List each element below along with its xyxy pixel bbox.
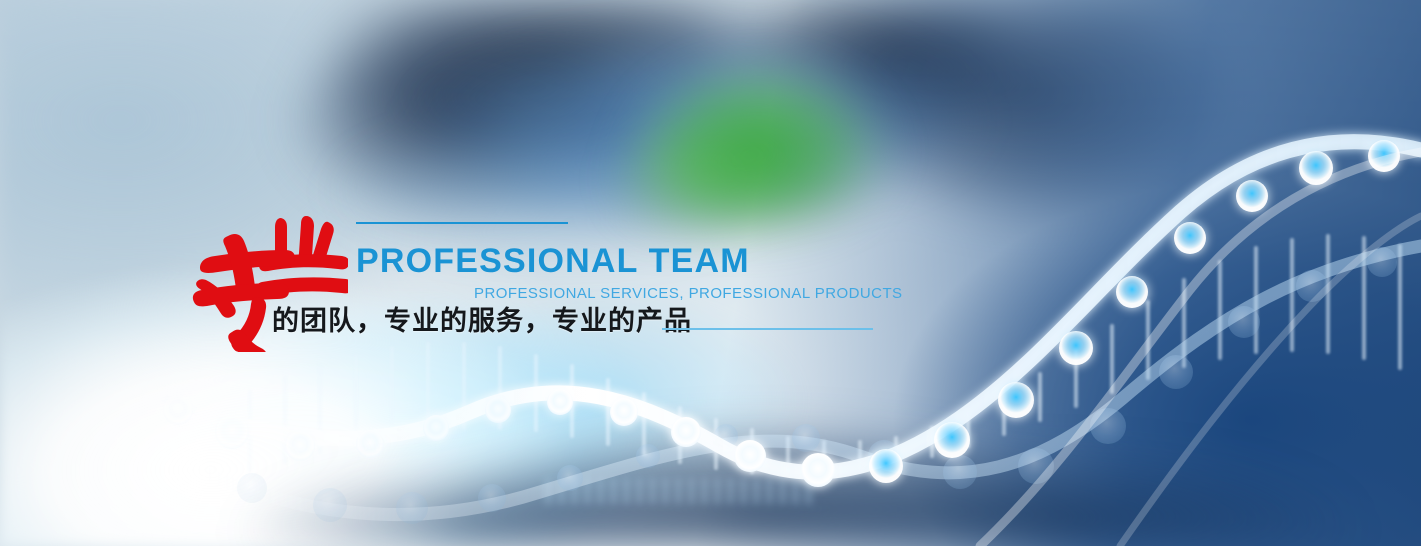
chinese-tagline: 的团队，专业的服务，专业的产品 xyxy=(272,305,692,339)
page-title: PROFESSIONAL TEAM xyxy=(356,244,750,278)
professional-team-banner: PROFESSIONAL TEAM PROFESSIONAL SERVICES,… xyxy=(0,0,1421,546)
page-subtitle: PROFESSIONAL SERVICES, PROFESSIONAL PROD… xyxy=(474,286,903,301)
headline-rule-top xyxy=(356,222,568,224)
banner-content: PROFESSIONAL TEAM PROFESSIONAL SERVICES,… xyxy=(0,0,1421,546)
tagline-rule-bottom xyxy=(662,328,873,330)
